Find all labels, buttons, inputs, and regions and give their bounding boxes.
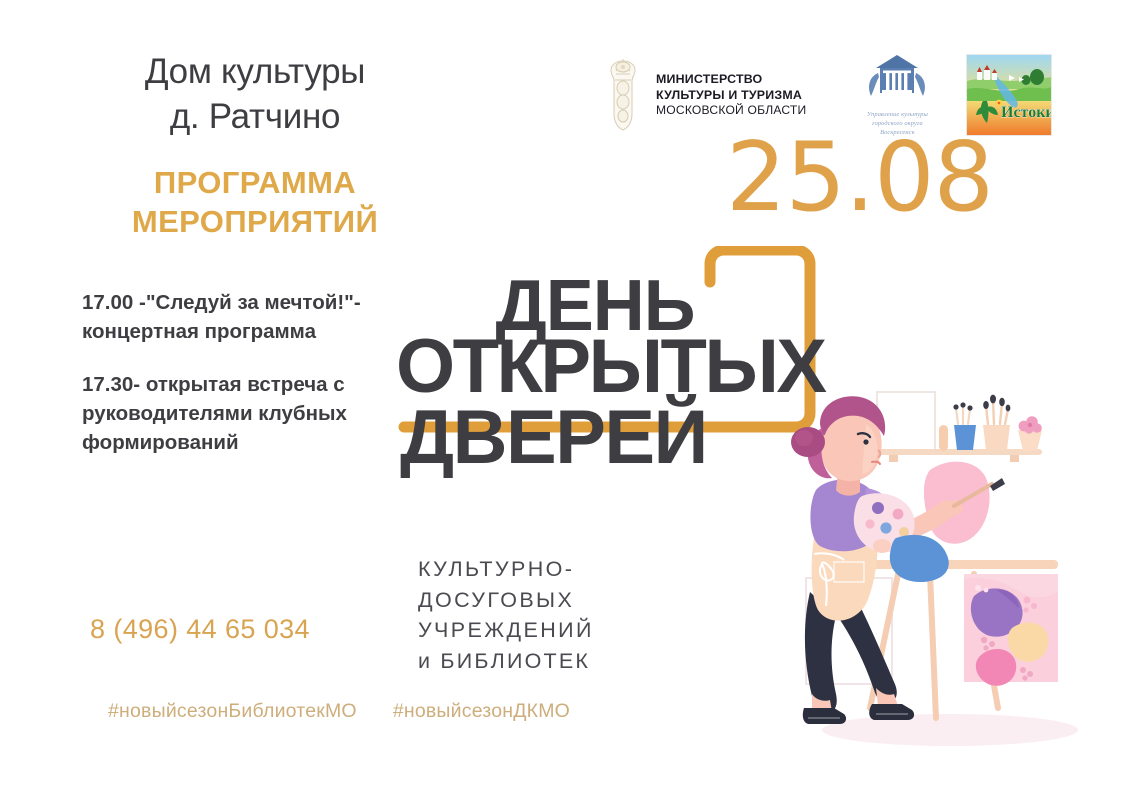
ministry-line-3: МОСКОВСКОЙ ОБЛАСТИ: [656, 103, 806, 119]
schedule-item: 17.00 -"Следуй за мечтой!"- концертная п…: [82, 288, 422, 346]
ministry-logo-text: МИНИСТЕРСТВО КУЛЬТУРЫ И ТУРИЗМА МОСКОВСК…: [656, 71, 806, 120]
culture-house-emblem-icon: [862, 92, 932, 109]
subtitle-line-1: КУЛЬТУРНО-: [418, 554, 594, 585]
program-heading-line-2: МЕРОПРИЯТИЙ: [90, 202, 420, 241]
subtitle-line-3: УЧРЕЖДЕНИЙ: [418, 615, 594, 646]
hashtag-biblioteki[interactable]: #новыйсезонБиблиотекМО: [108, 700, 357, 723]
headline-line-2: ОТКРЫТЫХ: [396, 334, 818, 399]
ministry-logo: МИНИСТЕРСТВО КУЛЬТУРЫ И ТУРИЗМА МОСКОВСК…: [600, 58, 806, 132]
subtitle: КУЛЬТУРНО- ДОСУГОВЫХ УЧРЕЖДЕНИЙ и БИБЛИО…: [418, 554, 594, 676]
ministry-line-1: МИНИСТЕРСТВО: [656, 71, 806, 87]
poster-canvas: Дом культуры д. Ратчино ПРОГРАММА МЕРОПР…: [0, 0, 1133, 793]
hashtag-row: #новыйсезонБиблиотекМО#новыйсезонДКМО: [108, 700, 648, 723]
headline: ДЕНЬ ОТКРЫТЫХ ДВЕРЕЙ: [398, 276, 818, 471]
phone-number[interactable]: 8 (496) 44 65 034: [90, 614, 310, 645]
hashtag-dk[interactable]: #новыйсезонДКМО: [393, 700, 570, 723]
schedule-item: 17.30- открытая встреча с руководителями…: [82, 370, 422, 457]
venue-line-1: Дом культуры: [90, 50, 420, 95]
svg-text:Истоки: Истоки: [1001, 104, 1051, 121]
subtitle-line-4: и БИБЛИОТЕК: [418, 646, 594, 677]
schedule-list: 17.00 -"Следуй за мечтой!"- концертная п…: [82, 288, 422, 458]
department-line-1: Управление культуры: [848, 110, 946, 119]
venue-title: Дом культуры д. Ратчино: [90, 50, 420, 140]
painter-illustration: [778, 378, 1123, 750]
coat-of-arms-icon: [600, 58, 646, 132]
program-heading-line-1: ПРОГРАММА: [90, 163, 420, 202]
subtitle-line-2: ДОСУГОВЫХ: [418, 585, 594, 616]
program-heading: ПРОГРАММА МЕРОПРИЯТИЙ: [90, 163, 420, 242]
event-date: 25.08: [726, 131, 993, 226]
venue-line-2: д. Ратчино: [90, 95, 420, 140]
ministry-line-2: КУЛЬТУРЫ И ТУРИЗМА: [656, 87, 806, 103]
headline-line-3: ДВЕРЕЙ: [400, 405, 818, 470]
